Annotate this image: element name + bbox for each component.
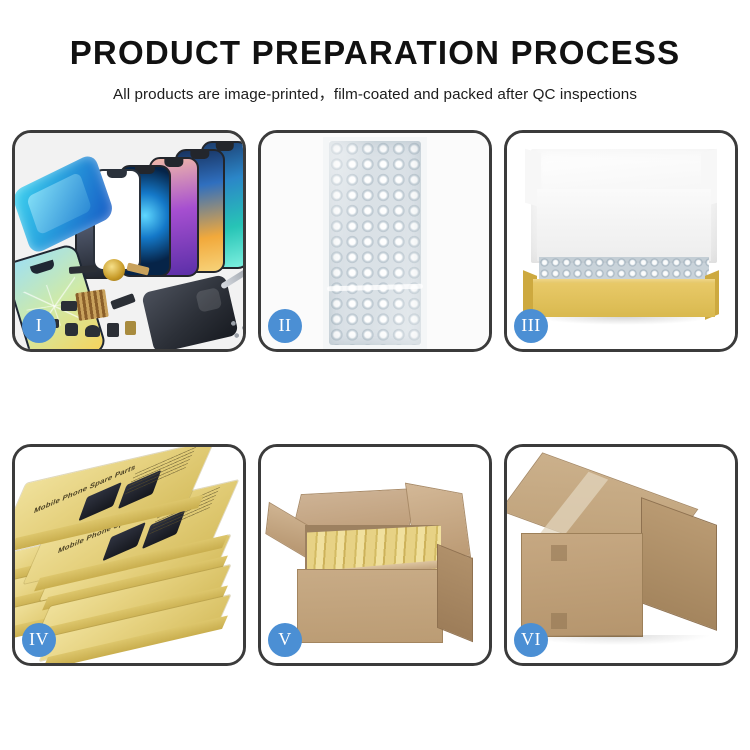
sealed-carton-shadow bbox=[527, 635, 709, 645]
connector-chip-grid bbox=[75, 289, 109, 321]
flex-cable-part-1 bbox=[69, 265, 97, 274]
page-header: PRODUCT PREPARATION PROCESS All products… bbox=[0, 0, 750, 104]
step-badge-3: III bbox=[514, 309, 548, 343]
step-badge-4: IV bbox=[22, 623, 56, 657]
small-component-3 bbox=[61, 301, 77, 311]
retail-box-slab-f bbox=[45, 617, 225, 639]
retail-box-spec-lines-1 bbox=[124, 447, 196, 495]
sealed-carton-notch-top bbox=[551, 545, 567, 561]
process-step-panel-5[interactable]: V bbox=[258, 444, 492, 666]
screws-group bbox=[229, 319, 243, 341]
inner-box-shadow bbox=[537, 317, 711, 325]
step-badge-2: II bbox=[268, 309, 302, 343]
process-step-panel-2[interactable]: II bbox=[258, 130, 492, 352]
inner-box-front-panel bbox=[533, 283, 715, 317]
step-badge-6: VI bbox=[514, 623, 548, 657]
process-step-panel-4[interactable]: Mobile Phone Spare Parts Mobile Phone Sp… bbox=[12, 444, 246, 666]
process-step-panel-1[interactable]: I bbox=[12, 130, 246, 352]
retail-box-printed-1: Mobile Phone Spare Parts bbox=[15, 465, 201, 519]
speaker-component bbox=[85, 325, 100, 337]
carton-side-panel bbox=[437, 543, 473, 642]
step-badge-5: V bbox=[268, 623, 302, 657]
gold-coil-part bbox=[103, 259, 125, 281]
process-step-panel-3[interactable]: III bbox=[504, 130, 738, 352]
inner-box-interior bbox=[537, 189, 711, 261]
small-component-5 bbox=[65, 323, 78, 336]
carton-front-panel bbox=[297, 569, 443, 643]
page-subtitle: All products are image-printed，film-coat… bbox=[0, 82, 750, 104]
process-step-panel-6[interactable]: VI bbox=[504, 444, 738, 666]
bubble-wrap-sheen bbox=[329, 141, 421, 345]
process-step-grid: I II III bbox=[12, 130, 738, 666]
step-badge-1: I bbox=[22, 309, 56, 343]
sealed-carton-notch-bottom bbox=[551, 613, 567, 629]
gold-contact-part bbox=[125, 321, 136, 335]
small-component-7 bbox=[107, 323, 119, 337]
sealed-carton-front-panel bbox=[521, 533, 643, 637]
page-title: PRODUCT PREPARATION PROCESS bbox=[0, 36, 750, 71]
